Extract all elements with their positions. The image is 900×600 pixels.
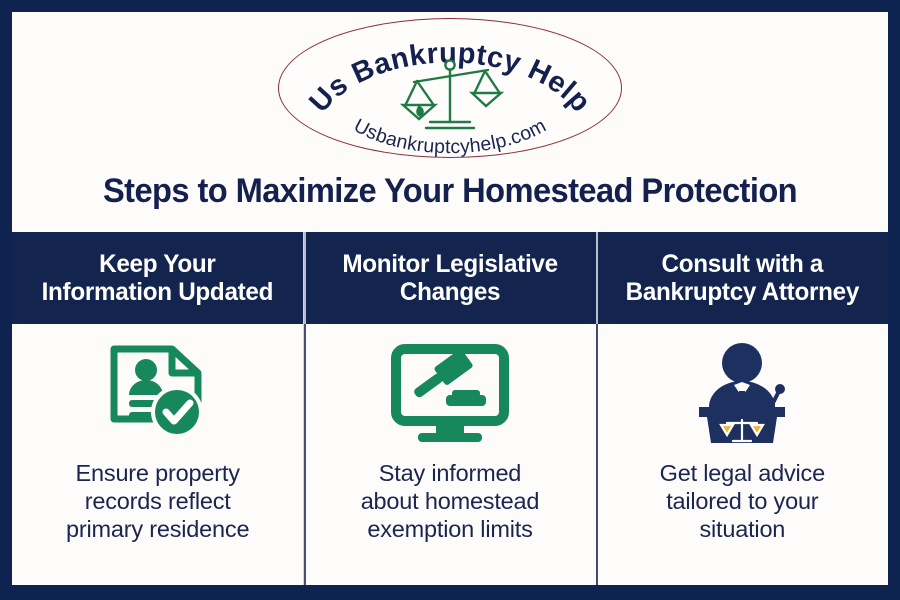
column-heading: Consult with a Bankruptcy Attorney [626, 250, 859, 306]
brand-logo: Us Bankruptcy Help [278, 18, 622, 158]
column-header-band: Keep Your Information Updated [12, 232, 303, 324]
logo-graphic: Us Bankruptcy Help [278, 18, 622, 158]
podium-top [699, 407, 785, 417]
columns-container: Keep Your Information Updated [12, 232, 888, 585]
monitor-stand [418, 433, 482, 442]
column-header-band: Monitor Legislative Changes [304, 232, 595, 324]
column-consult-bankruptcy-attorney: Consult with a Bankruptcy Attorney [596, 232, 888, 585]
sound-block-top [452, 390, 480, 397]
band-divider-2 [596, 232, 598, 324]
column-body: Stay informed about homestead exemption … [304, 324, 595, 585]
column-body: Ensure property records reflect primary … [12, 324, 303, 585]
microphone-head [775, 384, 785, 394]
column-keep-information-updated: Keep Your Information Updated [12, 232, 303, 585]
attorney-podium-scales-icon [667, 338, 817, 448]
column-body: Get legal advice tailored to your situat… [597, 324, 888, 585]
column-heading: Keep Your Information Updated [42, 250, 274, 306]
column-description: Stay informed about homestead exemption … [347, 460, 554, 544]
column-description: Get legal advice tailored to your situat… [646, 460, 839, 544]
column-heading: Monitor Legislative Changes [342, 250, 557, 306]
page-title: Steps to Maximize Your Homestead Protect… [30, 160, 871, 222]
monitor-gavel-icon [375, 338, 525, 448]
column-description: Ensure property records reflect primary … [52, 460, 263, 544]
attorney-head [722, 343, 762, 383]
gavel-handle [413, 372, 445, 399]
band-divider-1 [304, 232, 306, 324]
column-monitor-legislative-changes: Monitor Legislative Changes [303, 232, 595, 585]
infographic-canvas: Us Bankruptcy Help [0, 0, 900, 600]
document-person-check-icon [83, 338, 233, 448]
person-head [135, 359, 157, 381]
check-badge [155, 390, 199, 434]
person-body [129, 380, 163, 395]
column-header-band: Consult with a Bankruptcy Attorney [597, 232, 888, 324]
